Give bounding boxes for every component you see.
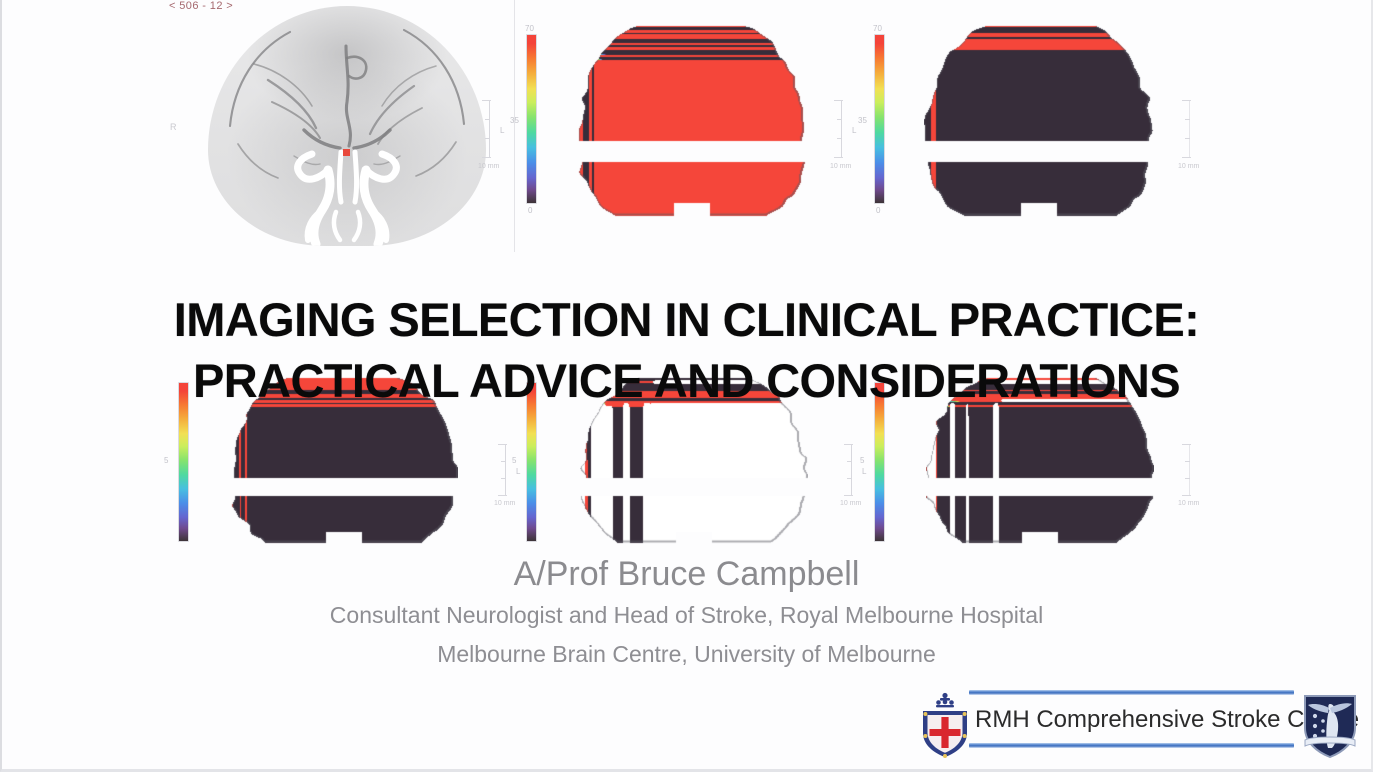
author-block: A/Prof Bruce Campbell Consultant Neurolo… [2, 552, 1371, 674]
stroke-centre-banner: RMH Comprehensive Stroke Centre [969, 688, 1294, 760]
colorbar-mid-label-3: 5 [164, 456, 168, 465]
perfusion-cbf-map [577, 22, 807, 217]
panel-divider [514, 0, 515, 252]
presentation-slide: < 506 - 12 > R [0, 0, 1373, 772]
tmax-scale-label: 10 mm [840, 500, 861, 507]
affiliation-line-1: Consultant Neurologist and Head of Strok… [2, 596, 1371, 635]
page-title: IMAGING SELECTION IN CLINICAL PRACTICE: … [2, 289, 1371, 411]
mtt-side-left-label: L [516, 467, 520, 476]
royal-melbourne-hospital-crest [917, 691, 973, 759]
footer-logo-bar: RMH Comprehensive Stroke Centre [907, 686, 1373, 766]
presenter-name: A/Prof Bruce Campbell [2, 552, 1371, 596]
angio-side-marker: R [170, 122, 177, 132]
colorbar-max-label-2: 70 [873, 24, 882, 33]
colorbar-min-label-1: 0 [528, 206, 532, 215]
perfusion-cbv-map [924, 22, 1154, 217]
colorbar-cbv-left [874, 34, 885, 204]
cbf-side-left-label: L [852, 126, 856, 135]
colorbar-mid-label-4: 5 [512, 456, 516, 465]
colorbar-min-label-2: 0 [876, 206, 880, 215]
colorbar-mid-label-1: 35 [510, 116, 519, 125]
angio-side-left-label: L [500, 126, 504, 135]
angio-scale-label: 10 mm [478, 163, 499, 170]
university-of-melbourne-crest [1299, 690, 1361, 760]
cbf-scale-label: 10 mm [830, 163, 851, 170]
ct-angiogram-mip [208, 6, 486, 246]
title-line-2: PRACTICAL ADVICE AND CONSIDERATIONS [2, 350, 1371, 411]
title-line-1: IMAGING SELECTION IN CLINICAL PRACTICE: [174, 293, 1199, 346]
imaging-row-top: < 506 - 12 > R [2, 0, 1371, 258]
colorbar-cbf-left [526, 34, 537, 204]
cbv-scale-label: 10 mm [1178, 163, 1199, 170]
affiliation-line-2: Melbourne Brain Centre, University of Me… [2, 635, 1371, 674]
colorbar-max-label-1: 70 [525, 24, 534, 33]
stroke-centre-label: RMH Comprehensive Stroke Centre [975, 700, 1290, 740]
colorbar-mid-label-2: 35 [858, 116, 867, 125]
delay-scale-label: 10 mm [1178, 500, 1199, 507]
banner-rule-bottom [969, 743, 1294, 748]
tmax-side-left-label: L [862, 467, 866, 476]
colorbar-mid-label-5: 5 [860, 456, 864, 465]
banner-rule-top [969, 690, 1294, 695]
mtt-scale-label: 10 mm [494, 500, 515, 507]
